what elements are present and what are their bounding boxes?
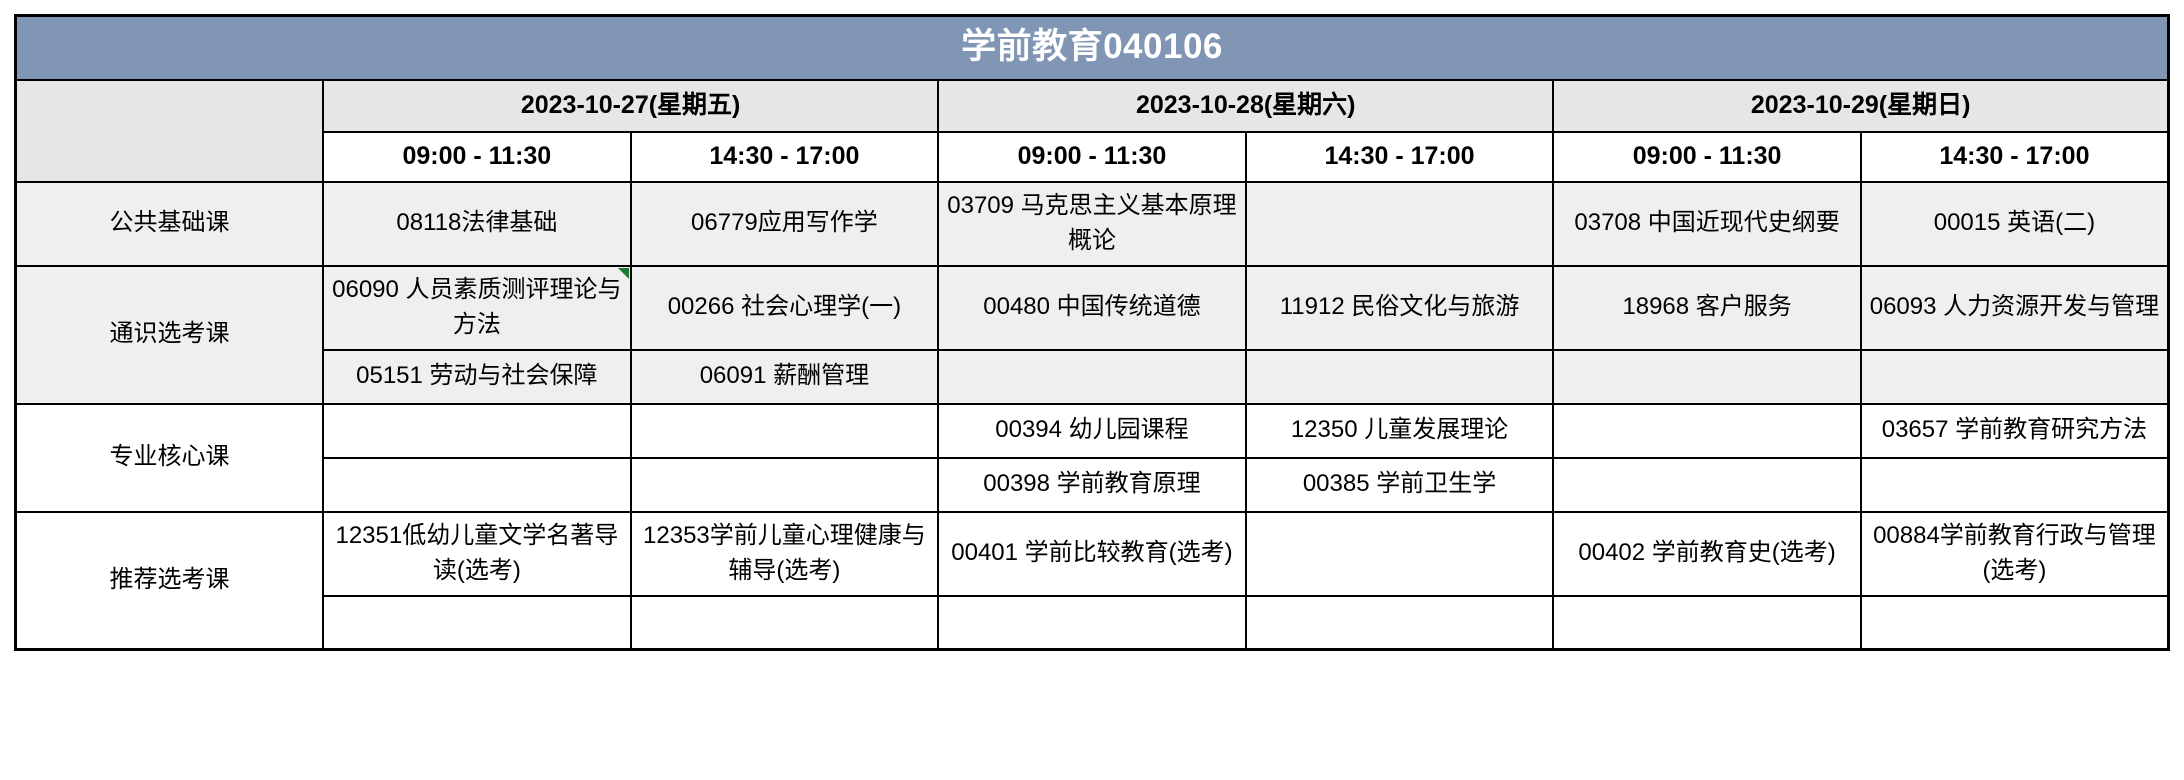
course-cell: [1246, 350, 1554, 404]
date-header-1: 2023-10-27(星期五): [323, 80, 938, 132]
course-cell: [1861, 596, 2169, 650]
course-cell: 05151 劳动与社会保障: [323, 350, 631, 404]
course-cell: [938, 596, 1246, 650]
course-cell: [323, 458, 631, 512]
spreadsheet-canvas: 学前教育040106 2023-10-27(星期五) 2023-10-28(星期…: [0, 0, 2184, 780]
comment-indicator-icon: [618, 268, 629, 279]
date-header-2: 2023-10-28(星期六): [938, 80, 1553, 132]
category-label-0: 公共基础课: [16, 182, 324, 266]
course-cell: [631, 458, 939, 512]
table-row: 00398 学前教育原理 00385 学前卫生学: [16, 458, 2169, 512]
slot-header-1: 09:00 - 11:30: [323, 132, 631, 182]
course-cell: [1553, 404, 1861, 458]
course-cell: 03709 马克思主义基本原理概论: [938, 182, 1246, 266]
course-cell: 00015 英语(二): [1861, 182, 2169, 266]
course-cell-text: 06090 人员素质测评理论与方法: [330, 273, 624, 343]
table-row: 推荐选考课 12351低幼儿童文学名著导读(选考) 12353学前儿童心理健康与…: [16, 512, 2169, 596]
table-row: 专业核心课 00394 幼儿园课程 12350 儿童发展理论 03657 学前教…: [16, 404, 2169, 458]
course-cell: [1553, 596, 1861, 650]
course-cell: 06779应用写作学: [631, 182, 939, 266]
course-cell: 00394 幼儿园课程: [938, 404, 1246, 458]
course-cell: 00480 中国传统道德: [938, 266, 1246, 350]
table-row: 公共基础课 08118法律基础 06779应用写作学 03709 马克思主义基本…: [16, 182, 2169, 266]
slot-header-3: 09:00 - 11:30: [938, 132, 1246, 182]
course-cell: 03657 学前教育研究方法: [1861, 404, 2169, 458]
course-cell: [1246, 182, 1554, 266]
table-row: 通识选考课 06090 人员素质测评理论与方法 00266 社会心理学(一) 0…: [16, 266, 2169, 350]
course-cell: 00398 学前教育原理: [938, 458, 1246, 512]
course-cell: 12350 儿童发展理论: [1246, 404, 1554, 458]
course-cell: 00402 学前教育史(选考): [1553, 512, 1861, 596]
course-cell: [631, 404, 939, 458]
course-cell: [631, 596, 939, 650]
table-row: 05151 劳动与社会保障 06091 薪酬管理: [16, 350, 2169, 404]
course-cell: 18968 客户服务: [1553, 266, 1861, 350]
course-cell: 00884学前教育行政与管理(选考): [1861, 512, 2169, 596]
course-cell: [1861, 458, 2169, 512]
category-label-2: 专业核心课: [16, 404, 324, 512]
course-cell: [1553, 350, 1861, 404]
course-cell: 08118法律基础: [323, 182, 631, 266]
course-cell: 06093 人力资源开发与管理: [1861, 266, 2169, 350]
title-row: 学前教育040106: [16, 16, 2169, 80]
course-cell: [1861, 350, 2169, 404]
course-cell: 12351低幼儿童文学名著导读(选考): [323, 512, 631, 596]
course-cell: 06091 薪酬管理: [631, 350, 939, 404]
course-cell: [323, 596, 631, 650]
course-cell: 12353学前儿童心理健康与辅导(选考): [631, 512, 939, 596]
course-cell: 00401 学前比较教育(选考): [938, 512, 1246, 596]
slot-header-5: 09:00 - 11:30: [1553, 132, 1861, 182]
date-header-3: 2023-10-29(星期日): [1553, 80, 2168, 132]
course-cell: [1246, 512, 1554, 596]
course-cell: [1553, 458, 1861, 512]
category-label-3: 推荐选考课: [16, 512, 324, 650]
date-header-row: 2023-10-27(星期五) 2023-10-28(星期六) 2023-10-…: [16, 80, 2169, 132]
corner-cell: [16, 80, 324, 182]
course-cell: [938, 350, 1246, 404]
course-cell: 06090 人员素质测评理论与方法: [323, 266, 631, 350]
slot-header-2: 14:30 - 17:00: [631, 132, 939, 182]
slot-header-4: 14:30 - 17:00: [1246, 132, 1554, 182]
course-cell: 00266 社会心理学(一): [631, 266, 939, 350]
course-cell: 11912 民俗文化与旅游: [1246, 266, 1554, 350]
table-body: 学前教育040106 2023-10-27(星期五) 2023-10-28(星期…: [16, 16, 2169, 650]
exam-schedule-table: 学前教育040106 2023-10-27(星期五) 2023-10-28(星期…: [14, 14, 2170, 651]
slot-header-row: 09:00 - 11:30 14:30 - 17:00 09:00 - 11:3…: [16, 132, 2169, 182]
course-cell: [323, 404, 631, 458]
page-title: 学前教育040106: [16, 16, 2169, 80]
slot-header-6: 14:30 - 17:00: [1861, 132, 2169, 182]
course-cell: 00385 学前卫生学: [1246, 458, 1554, 512]
category-label-1: 通识选考课: [16, 266, 324, 404]
table-row: [16, 596, 2169, 650]
course-cell: 03708 中国近现代史纲要: [1553, 182, 1861, 266]
course-cell: [1246, 596, 1554, 650]
